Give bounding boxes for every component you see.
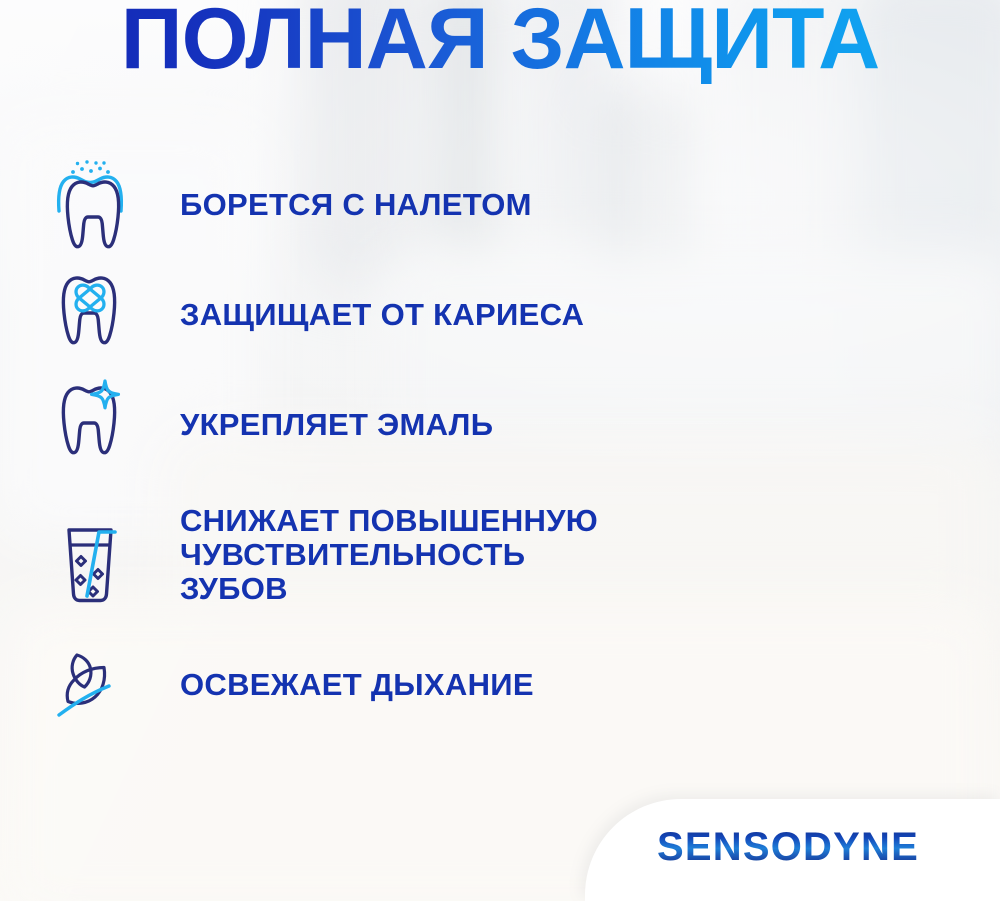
benefit-label-line: ОСВЕЖАЕТ ДЫХАНИЕ: [180, 668, 534, 703]
benefit-label: СНИЖАЕТ ПОВЫШЕННУЮ ЧУВСТВИТЕЛЬНОСТЬ ЗУБО…: [180, 504, 598, 606]
benefit-item-breath: ОСВЕЖАЕТ ДЫХАНИЕ: [0, 630, 780, 740]
benefit-label: БОРЕТСЯ С НАЛЕТОМ: [180, 188, 532, 223]
cold-drink-glass-icon: [0, 506, 180, 604]
tooth-with-cavity-shield-icon: [0, 269, 180, 361]
benefit-label-line: ЗАЩИЩАЕТ ОТ КАРИЕСА: [180, 298, 584, 333]
benefit-label: ЗАЩИЩАЕТ ОТ КАРИЕСА: [180, 298, 584, 333]
brand-logo-panel: SENSODYNE: [585, 799, 1000, 901]
benefit-item-sensitivity: СНИЖАЕТ ПОВЫШЕННУЮ ЧУВСТВИТЕЛЬНОСТЬ ЗУБО…: [0, 480, 780, 630]
benefit-item-cavities: ЗАЩИЩАЕТ ОТ КАРИЕСА: [0, 260, 780, 370]
benefit-label-line: СНИЖАЕТ ПОВЫШЕННУЮ: [180, 504, 598, 538]
benefit-item-plaque: БОРЕТСЯ С НАЛЕТОМ: [0, 150, 780, 260]
tooth-with-sparkle-icon: [0, 379, 180, 471]
page-title: ПОЛНАЯ ЗАЩИТА: [0, 0, 1000, 84]
benefit-label: ОСВЕЖАЕТ ДЫХАНИЕ: [180, 668, 534, 703]
benefit-label-line: УКРЕПЛЯЕТ ЭМАЛЬ: [180, 408, 493, 443]
advertisement-poster: ПОЛНАЯ ЗАЩИТА: [0, 0, 1000, 901]
benefit-label-line: ЧУВСТВИТЕЛЬНОСТЬ: [180, 538, 598, 572]
benefit-list: БОРЕТСЯ С НАЛЕТОМ ЗАЩИЩАЕТ ОТ КАРИЕСА: [0, 150, 780, 740]
sensodyne-logo: SENSODYNE: [657, 825, 919, 870]
benefit-label-line: ЗУБОВ: [180, 572, 598, 606]
mint-leaves-icon: [0, 647, 180, 723]
tooth-with-plaque-shield-icon: [0, 159, 180, 251]
benefit-item-enamel: УКРЕПЛЯЕТ ЭМАЛЬ: [0, 370, 780, 480]
benefit-label-line: БОРЕТСЯ С НАЛЕТОМ: [180, 188, 532, 223]
benefit-label: УКРЕПЛЯЕТ ЭМАЛЬ: [180, 408, 493, 443]
